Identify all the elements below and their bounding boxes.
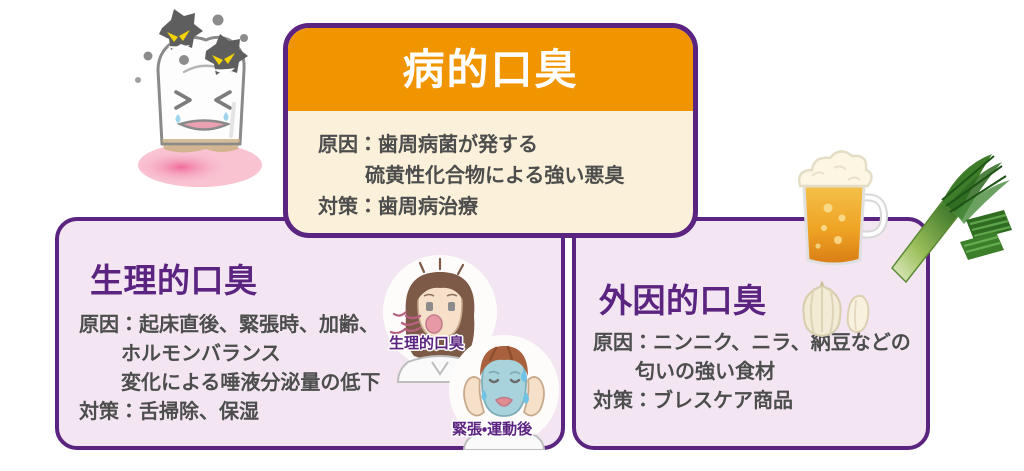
pathological-body: 原因：歯周病菌が発する 硫黄性化合物による強い悪臭 対策：歯周病治療 <box>288 111 693 223</box>
pathological-header: 病的口臭 <box>288 28 693 111</box>
pathological-line-1: 原因：歯周病菌が発する <box>318 130 693 161</box>
garlic-icon <box>790 272 882 342</box>
caption-stress-exercise: 緊張・運動後 <box>452 418 532 439</box>
panel-pathological-halitosis: 病的口臭 原因：歯周病菌が発する 硫黄性化合物による強い悪臭 対策：歯周病治療 <box>283 23 698 238</box>
pathological-title: 病的口臭 <box>402 49 578 91</box>
extrinsic-body: 原因：ニンニク、ニラ、納豆などの 匂いの強い食材 対策：ブレスケア商品 <box>593 329 911 416</box>
pathological-line-2: 硫黄性化合物による強い悪臭 <box>318 161 693 192</box>
physiological-title: 生理的口臭 <box>90 254 258 302</box>
physiological-line-4: 対策：舌掃除、保湿 <box>79 398 380 427</box>
infographic-canvas: 生理的口臭 原因：起床直後、緊張時、加齢、 ホルモンバランス 変化による唾液分泌… <box>0 0 1024 471</box>
extrinsic-title: 外因的口臭 <box>599 274 767 322</box>
extrinsic-line-2: 匂いの強い食材 <box>593 358 911 387</box>
green-onion-icon <box>884 150 1024 290</box>
pathological-line-3: 対策：歯周病治療 <box>318 192 693 223</box>
extrinsic-line-3: 対策：ブレスケア商品 <box>593 387 911 416</box>
physiological-line-2: ホルモンバランス <box>79 340 380 369</box>
beer-mug-icon <box>788 148 896 270</box>
physiological-line-1: 原因：起床直後、緊張時、加齢、 <box>79 311 380 340</box>
physiological-body: 原因：起床直後、緊張時、加齢、 ホルモンバランス 変化による唾液分泌量の低下 対… <box>79 311 380 427</box>
caption-morning-breath: 生理的口臭 <box>389 332 464 353</box>
physiological-line-3: 変化による唾液分泌量の低下 <box>79 369 380 398</box>
sad-tooth-with-germs-icon <box>118 8 298 198</box>
